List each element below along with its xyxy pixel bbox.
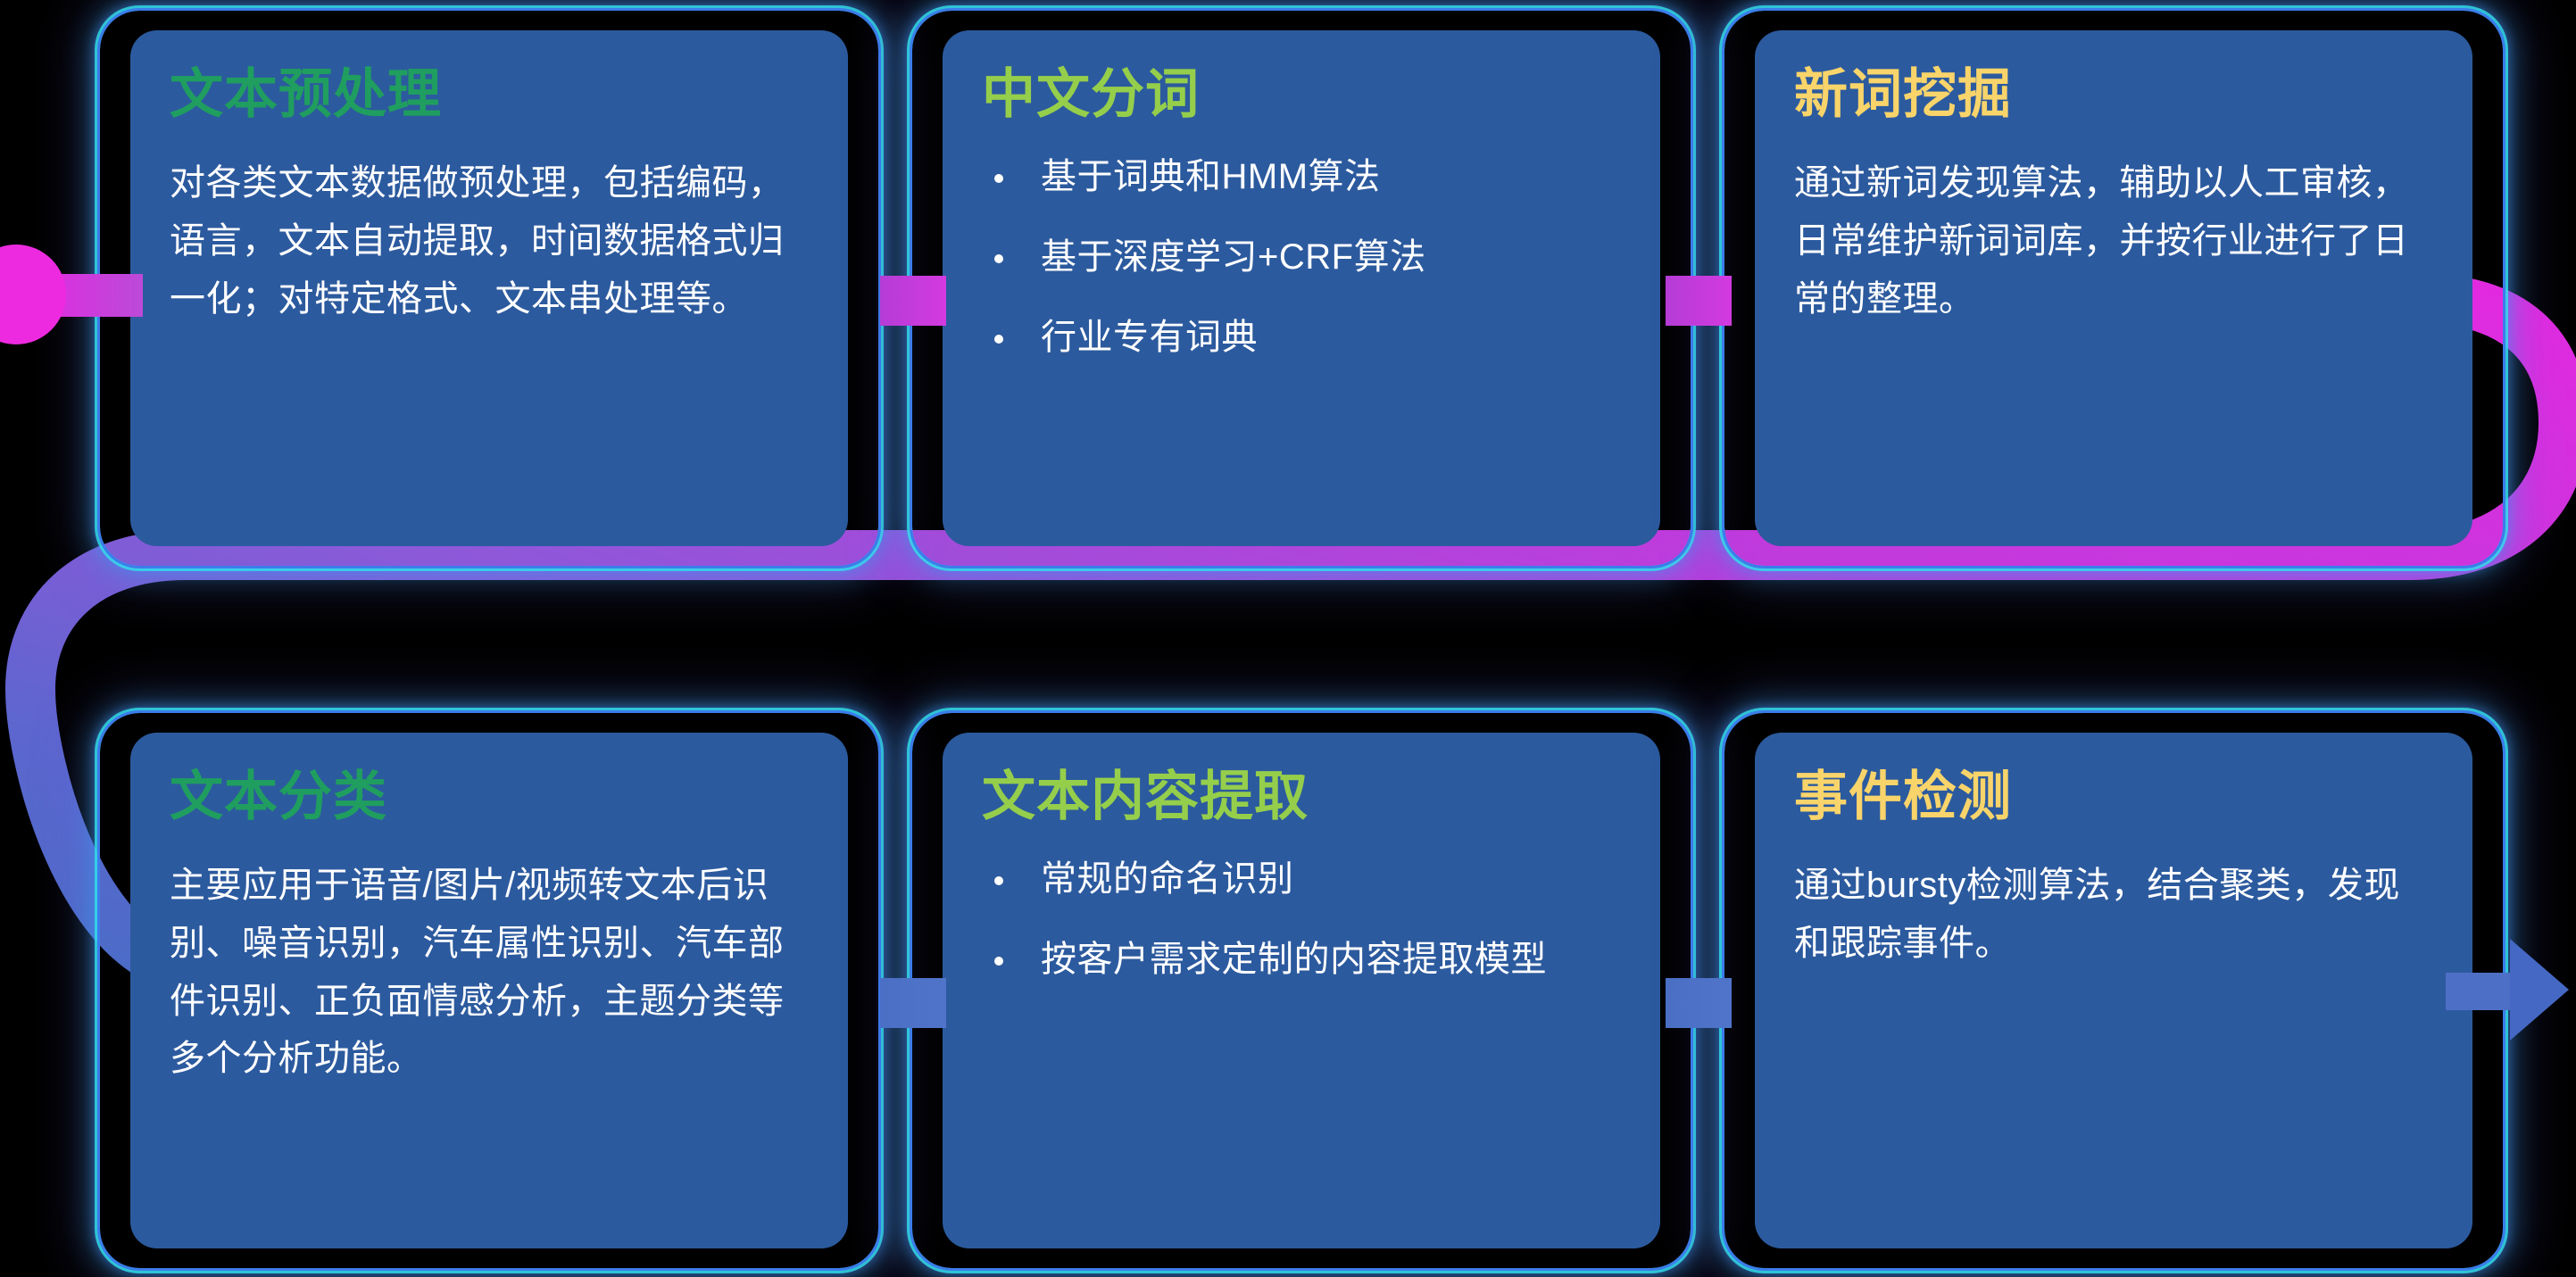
list-item: 常规的命名识别 bbox=[982, 857, 1621, 901]
card-slot-6: 事件检测 通过bursty检测算法，结合聚类，发现和跟踪事件。 bbox=[1721, 709, 2506, 1272]
arrow-right-icon bbox=[2510, 939, 2569, 1041]
diagram-canvas: 文本预处理 对各类文本数据做预处理，包括编码，语言，文本自动提取，时间数据格式归… bbox=[0, 0, 2576, 1277]
card-event-detection[interactable]: 事件检测 通过bursty检测算法，结合聚类，发现和跟踪事件。 bbox=[1755, 733, 2472, 1248]
card-paragraph: 通过bursty检测算法，结合聚类，发现和跟踪事件。 bbox=[1794, 857, 2433, 973]
card-paragraph: 对各类文本数据做预处理，包括编码，语言，文本自动提取，时间数据格式归一化；对特定… bbox=[170, 154, 809, 328]
list-item: 按客户需求定制的内容提取模型 bbox=[982, 937, 1621, 982]
card-slot-4: 文本分类 主要应用于语音/图片/视频转文本后识别、噪音识别，汽车属性识别、汽车部… bbox=[96, 709, 882, 1272]
card-title: 文本预处理 bbox=[170, 66, 809, 122]
card-new-word-mining[interactable]: 新词挖掘 通过新词发现算法，辅助以人工审核，日常维护新词词库，并按行业进行了日常… bbox=[1755, 30, 2472, 546]
card-bullet-list: 常规的命名识别 按客户需求定制的内容提取模型 bbox=[982, 857, 1621, 982]
card-title: 中文分词 bbox=[982, 66, 1621, 122]
card-slot-2: 中文分词 基于词典和HMM算法 基于深度学习+CRF算法 行业专有词典 bbox=[909, 7, 1694, 569]
card-chinese-word-segmentation[interactable]: 中文分词 基于词典和HMM算法 基于深度学习+CRF算法 行业专有词典 bbox=[943, 30, 1660, 546]
card-slot-5: 文本内容提取 常规的命名识别 按客户需求定制的内容提取模型 bbox=[909, 709, 1694, 1272]
card-title: 新词挖掘 bbox=[1794, 66, 2433, 122]
card-slot-3: 新词挖掘 通过新词发现算法，辅助以人工审核，日常维护新词词库，并按行业进行了日常… bbox=[1721, 7, 2506, 569]
card-title: 文本分类 bbox=[170, 768, 809, 825]
card-title: 事件检测 bbox=[1794, 768, 2433, 825]
card-text-classification[interactable]: 文本分类 主要应用于语音/图片/视频转文本后识别、噪音识别，汽车属性识别、汽车部… bbox=[130, 733, 848, 1248]
card-text-preprocessing[interactable]: 文本预处理 对各类文本数据做预处理，包括编码，语言，文本自动提取，时间数据格式归… bbox=[130, 30, 848, 546]
list-item: 行业专有词典 bbox=[982, 315, 1621, 360]
list-item: 基于词典和HMM算法 bbox=[982, 154, 1621, 199]
card-paragraph: 通过新词发现算法，辅助以人工审核，日常维护新词词库，并按行业进行了日常的整理。 bbox=[1794, 154, 2433, 328]
card-title: 文本内容提取 bbox=[982, 768, 1621, 825]
list-item: 基于深度学习+CRF算法 bbox=[982, 235, 1621, 279]
flow-end-stub bbox=[2446, 973, 2515, 1010]
card-row-top: 文本预处理 对各类文本数据做预处理，包括编码，语言，文本自动提取，时间数据格式归… bbox=[96, 7, 2506, 569]
connector-card5-card6 bbox=[1666, 978, 1732, 1028]
card-slot-1: 文本预处理 对各类文本数据做预处理，包括编码，语言，文本自动提取，时间数据格式归… bbox=[96, 7, 882, 569]
connector-card1-card2 bbox=[880, 276, 946, 326]
connector-card2-card3 bbox=[1666, 276, 1732, 326]
flow-start-dot-icon bbox=[0, 245, 66, 344]
card-text-content-extraction[interactable]: 文本内容提取 常规的命名识别 按客户需求定制的内容提取模型 bbox=[943, 733, 1660, 1248]
card-bullet-list: 基于词典和HMM算法 基于深度学习+CRF算法 行业专有词典 bbox=[982, 154, 1621, 360]
card-row-bottom: 文本分类 主要应用于语音/图片/视频转文本后识别、噪音识别，汽车属性识别、汽车部… bbox=[96, 709, 2506, 1272]
card-paragraph: 主要应用于语音/图片/视频转文本后识别、噪音识别，汽车属性识别、汽车部件识别、正… bbox=[170, 857, 809, 1088]
connector-card4-card5 bbox=[880, 978, 946, 1028]
